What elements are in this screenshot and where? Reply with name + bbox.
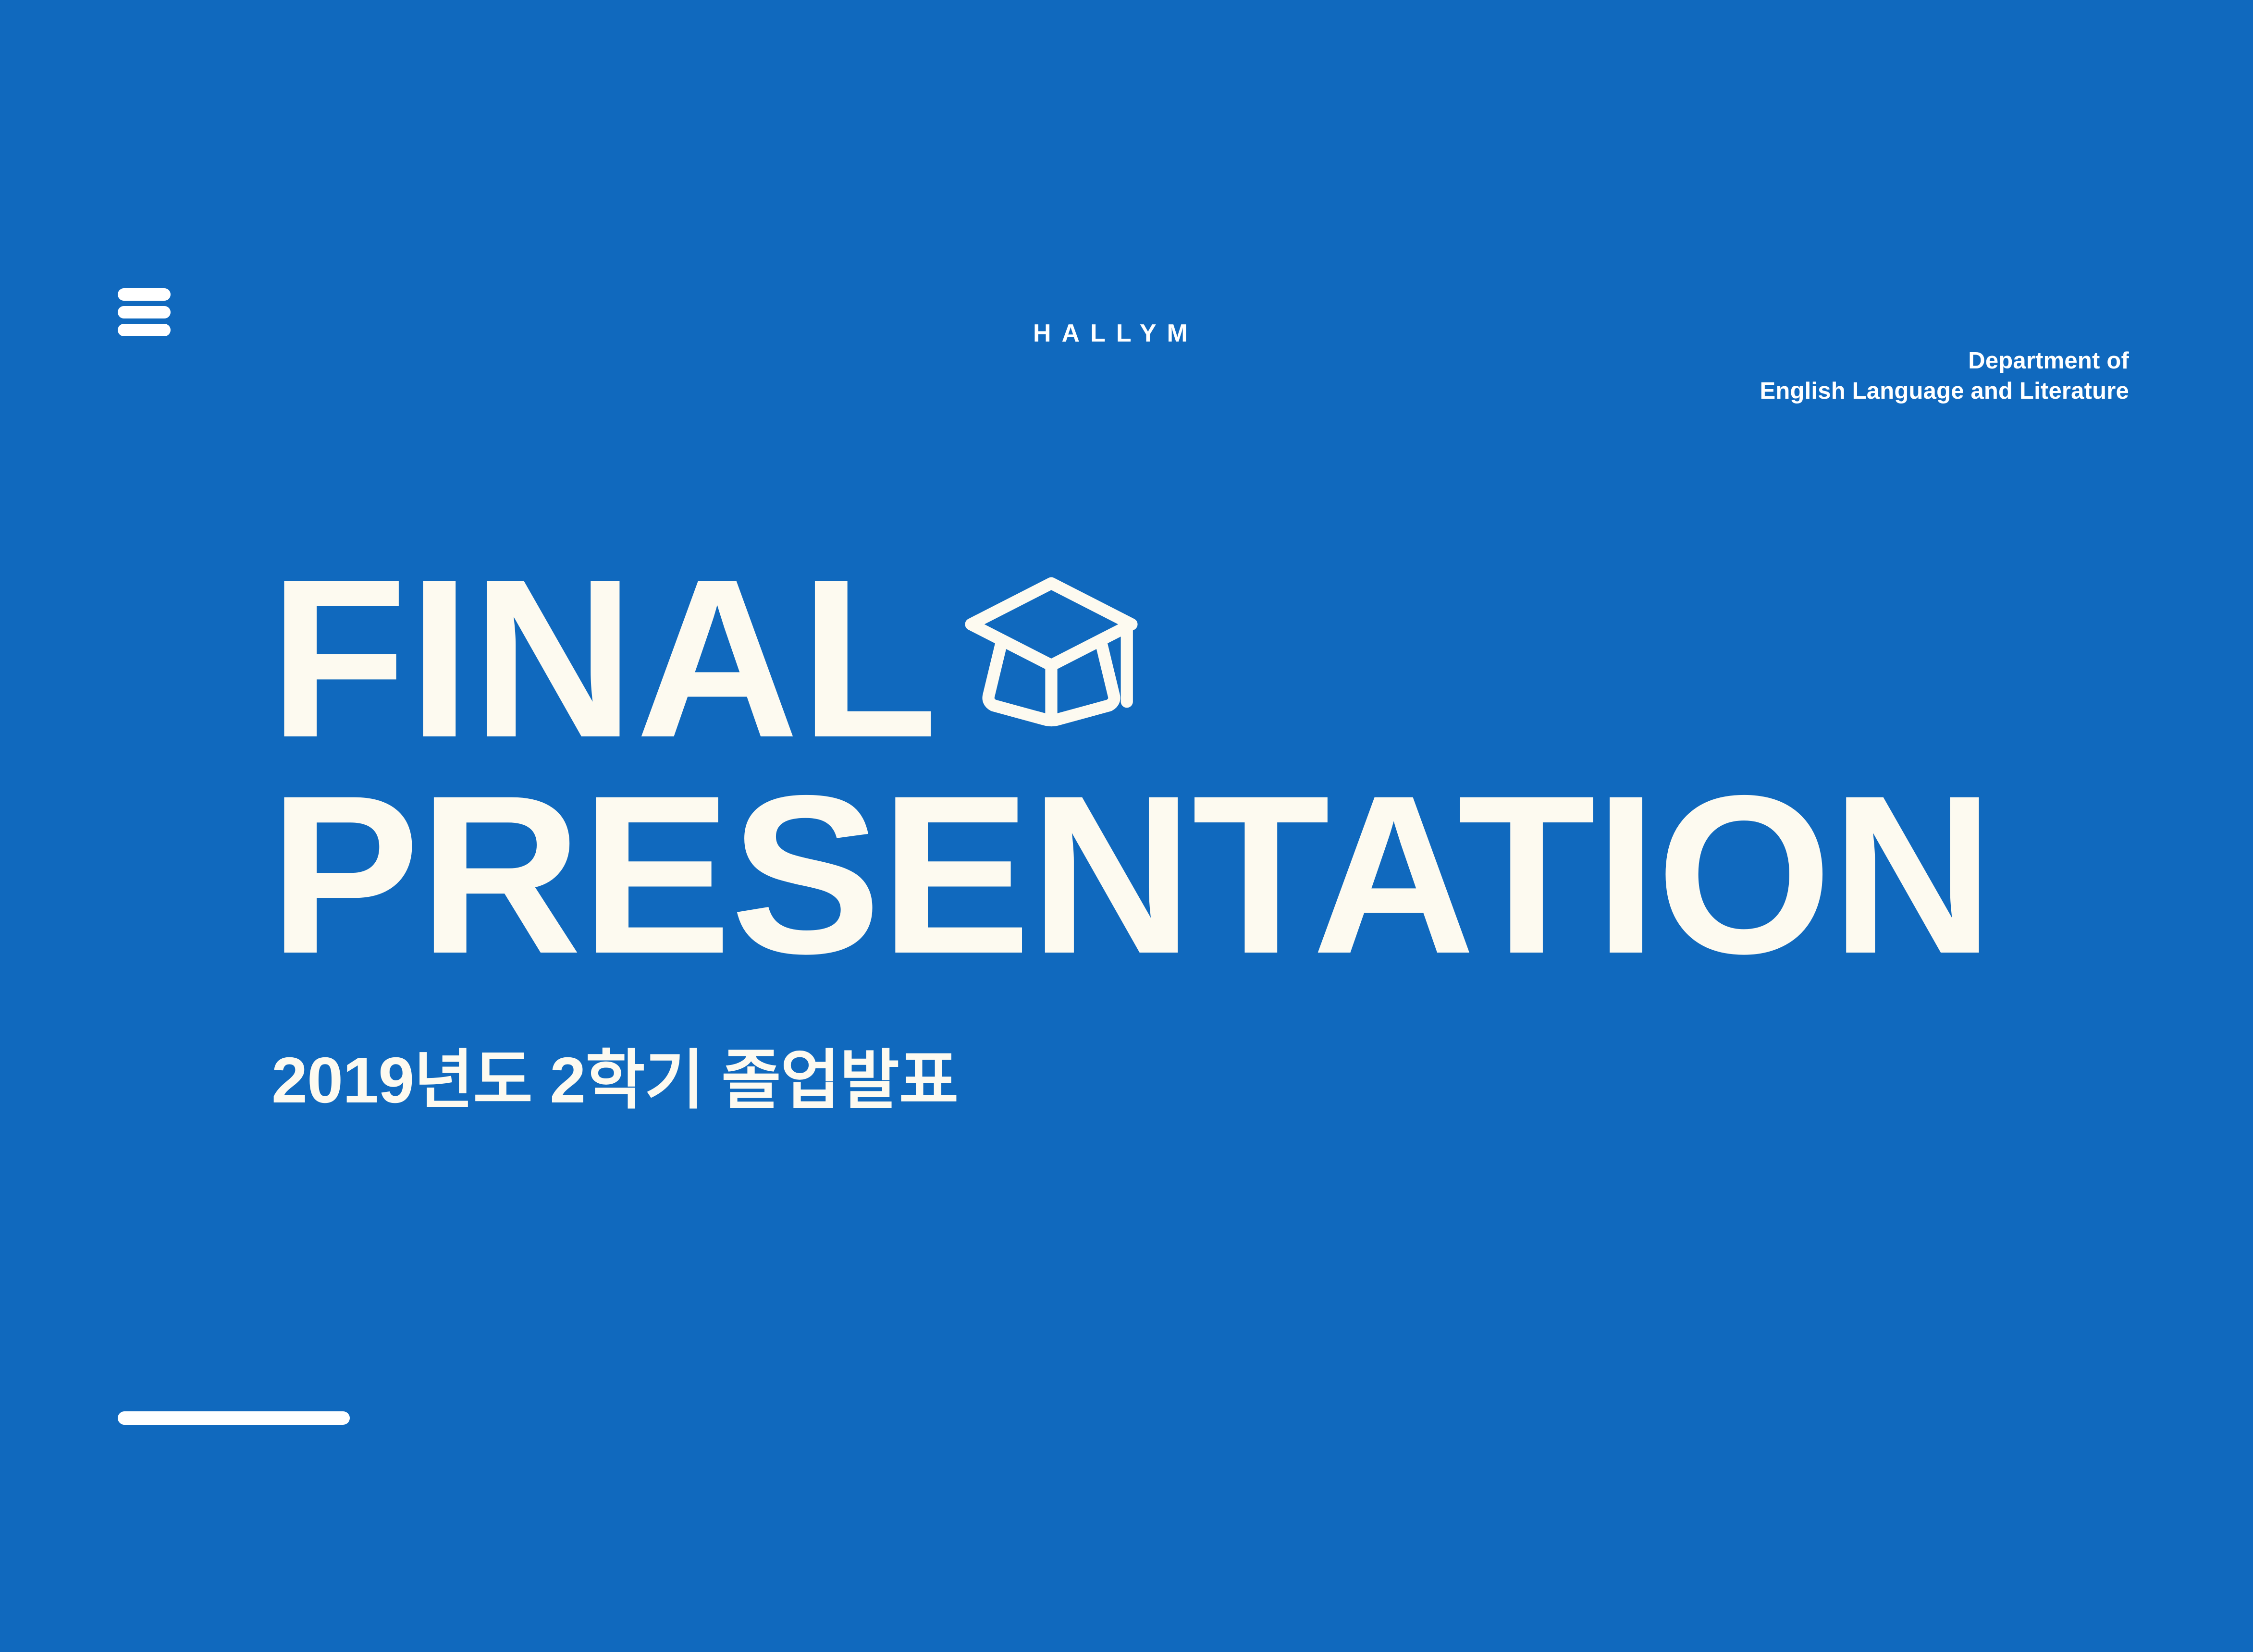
department-line-1: Department of <box>1760 346 2129 376</box>
hamburger-menu-icon[interactable] <box>118 288 171 336</box>
department-block: Department of English Language and Liter… <box>1760 346 2129 406</box>
title-line-1: FINAL <box>269 555 939 762</box>
subtitle: 2019년도 2학기 졸업발표 <box>271 1045 958 1116</box>
title-line-2: PRESENTATION <box>269 771 1993 979</box>
hamburger-bar-middle <box>118 306 171 318</box>
hamburger-bar-top <box>118 288 171 301</box>
presentation-slide: HALLYM Department of English Language an… <box>0 0 2253 1652</box>
department-line-2: English Language and Literature <box>1760 376 2129 406</box>
brand-label: HALLYM <box>1033 321 1198 346</box>
graduation-cap-icon <box>955 570 1147 729</box>
page-title: FINAL PRESENTATION <box>269 555 1993 979</box>
hamburger-bar-bottom <box>118 324 171 336</box>
title-line-1-row: FINAL <box>269 555 1993 762</box>
decorative-rule <box>118 1411 350 1425</box>
